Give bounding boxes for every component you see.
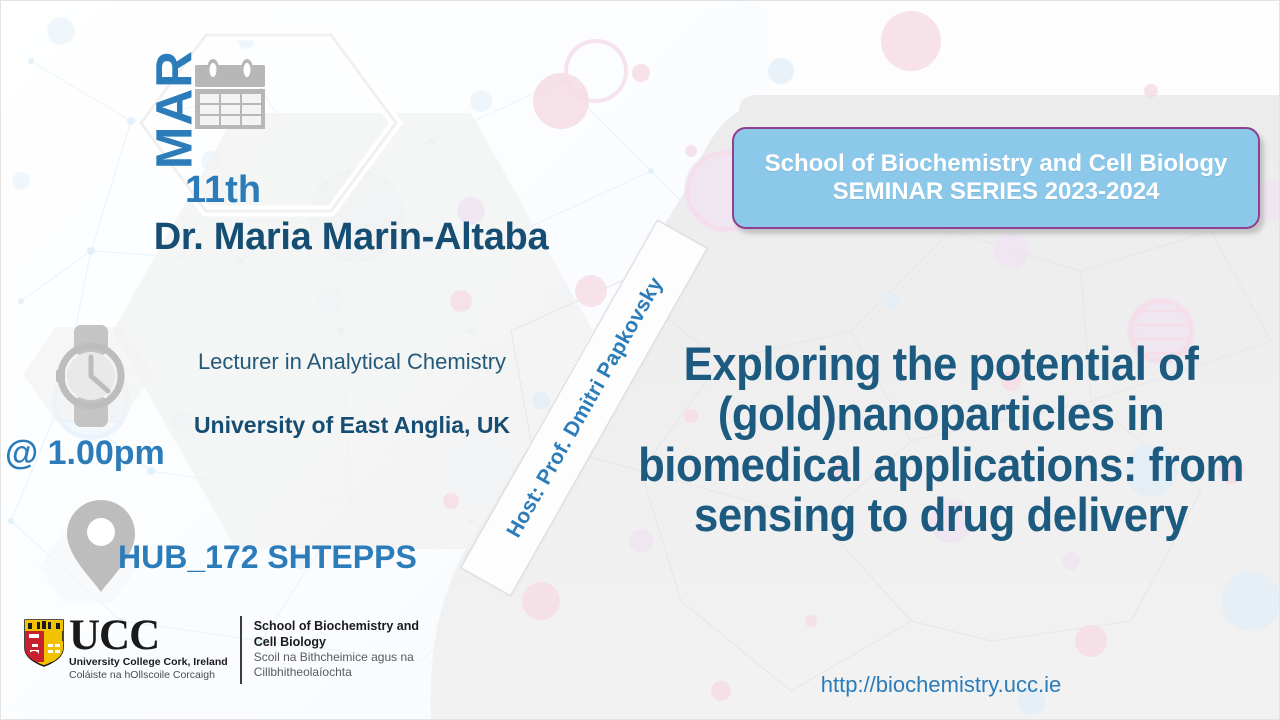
event-venue: HUB_172 SHTEPPS	[118, 541, 417, 573]
speaker-name: Dr. Maria Marin-Altaba	[151, 216, 551, 259]
seminar-poster: MAR	[0, 0, 1280, 720]
event-day: 11th	[185, 171, 261, 209]
banner-school-line: School of Biochemistry and Cell Biology	[765, 150, 1228, 178]
event-time: @ 1.00pm	[5, 436, 165, 470]
speaker-affiliation: University of East Anglia, UK	[161, 411, 543, 441]
ucc-crest-icon	[23, 618, 65, 668]
watch-icon	[50, 323, 132, 434]
speaker-role: Lecturer in Analytical Chemistry	[121, 349, 583, 375]
talk-title: Exploring the potential of (gold)nanopar…	[629, 339, 1254, 540]
ucc-logo: UCC University College Cork, Ireland Col…	[23, 616, 423, 696]
seminar-series-banner: School of Biochemistry and Cell Biology …	[732, 127, 1260, 229]
ucc-university-en: University College Cork, Ireland	[69, 656, 228, 670]
website-url[interactable]: http://biochemistry.ucc.ie	[605, 674, 1277, 696]
school-name-group: School of Biochemistry and Cell Biology …	[254, 616, 419, 681]
logo-divider	[240, 616, 242, 684]
event-date-block: MAR	[121, 29, 341, 209]
ucc-wordmark: UCC	[69, 616, 228, 656]
school-en-line1: School of Biochemistry and	[254, 618, 419, 634]
ucc-university-ga: Coláiste na hOllscoile Corcaigh	[69, 669, 228, 683]
school-ga-line1: Scoil na Bithcheimice agus na	[254, 650, 419, 665]
ucc-wordmark-group: UCC University College Cork, Ireland Col…	[69, 616, 228, 683]
calendar-icon	[191, 59, 269, 136]
school-en-line2: Cell Biology	[254, 634, 419, 650]
banner-series-line: SEMINAR SERIES 2023-2024	[833, 178, 1160, 206]
school-ga-line2: Cillbhitheolaíochta	[254, 665, 419, 680]
